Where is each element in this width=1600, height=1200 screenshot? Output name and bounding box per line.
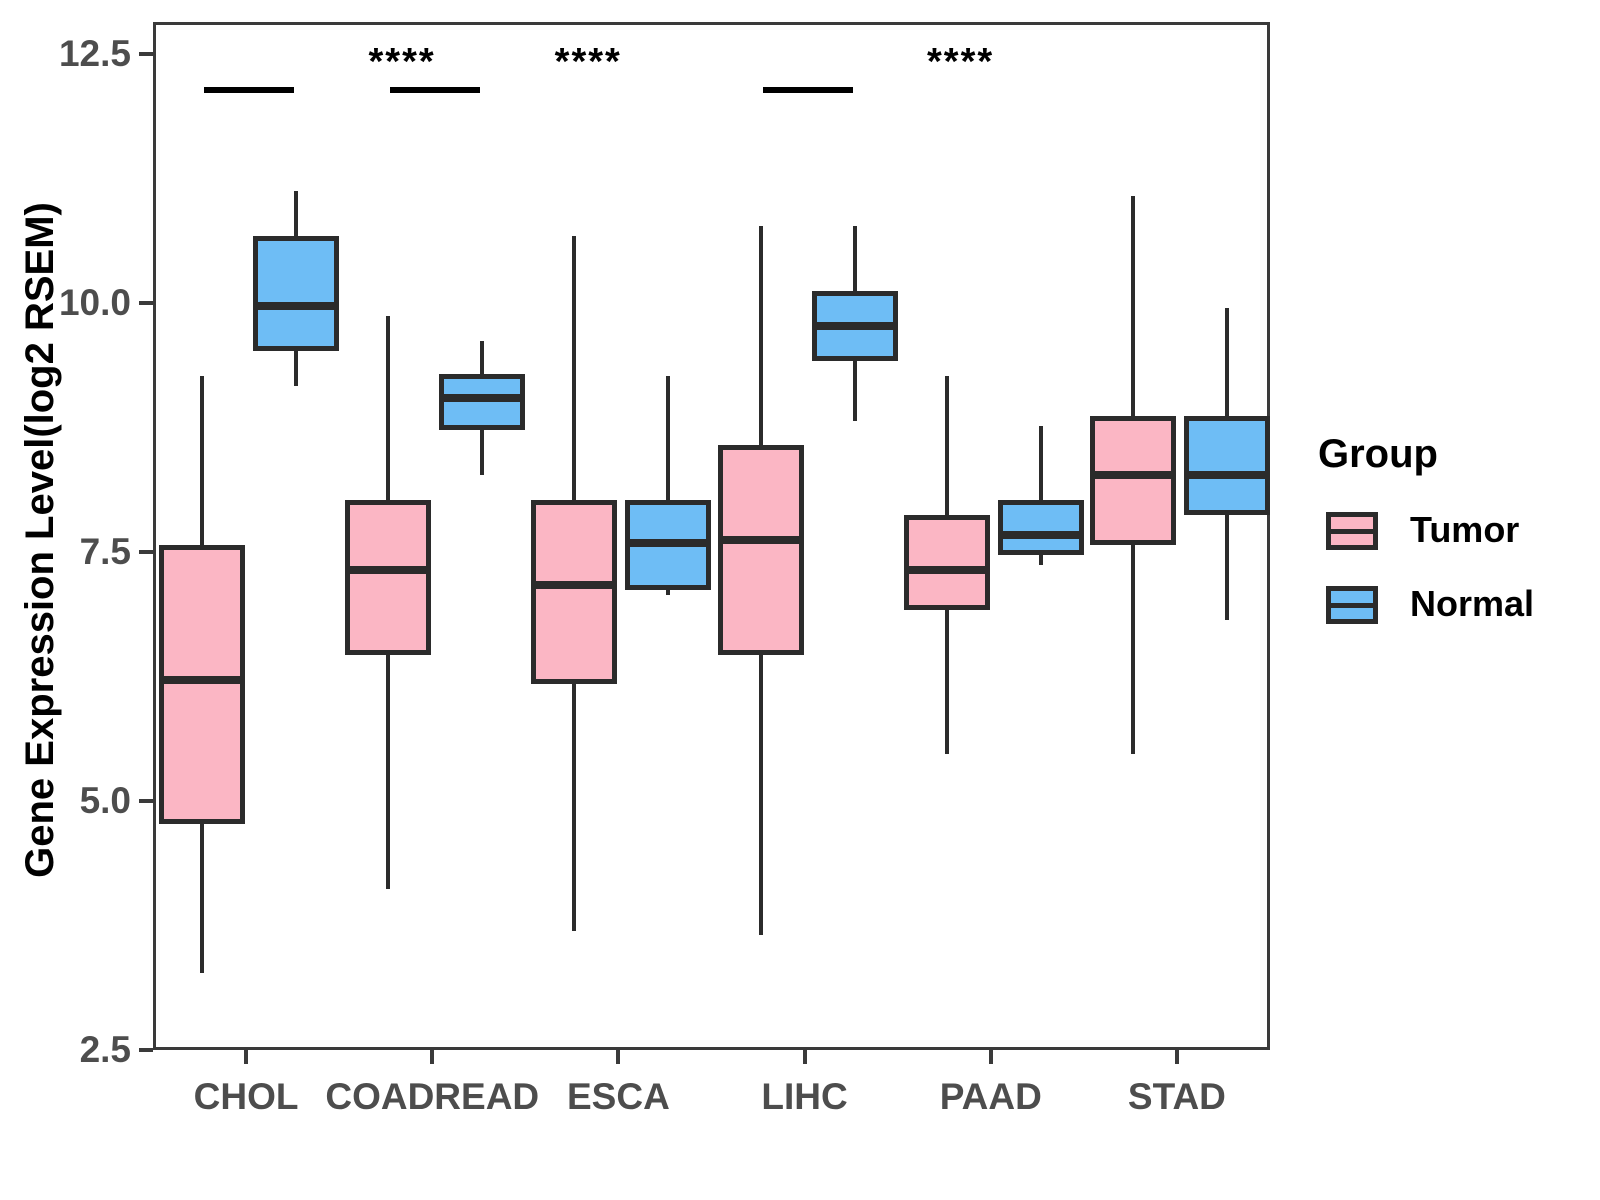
x-tick-mark — [803, 1050, 807, 1064]
y-tick-mark — [139, 301, 153, 305]
significance-stars: **** — [927, 43, 994, 81]
legend-title: Group — [1318, 432, 1588, 477]
median-line — [1090, 471, 1176, 479]
y-tick-label: 10.0 — [11, 282, 131, 324]
significance-bar — [390, 87, 480, 93]
y-tick-label: 5.0 — [11, 780, 131, 822]
legend-label: Normal — [1410, 583, 1534, 625]
box-tumor-lihc — [718, 445, 804, 654]
y-tick-mark — [139, 52, 153, 56]
box-normal-chol — [253, 236, 339, 351]
y-tick-label: 12.5 — [11, 33, 131, 75]
median-line — [998, 531, 1084, 539]
median-line — [812, 322, 898, 330]
plot-area: ************ — [156, 25, 1267, 1047]
median-line — [904, 566, 990, 574]
legend-median — [1326, 603, 1378, 608]
median-line — [345, 566, 431, 574]
legend: Group TumorNormal — [1318, 432, 1588, 647]
significance-bar — [204, 87, 294, 93]
x-tick-mark — [989, 1050, 993, 1064]
chart-root: Gene Expression Level(log2 RSEM) 12.510.… — [0, 0, 1600, 1200]
median-line — [439, 394, 525, 402]
x-tick-mark — [244, 1050, 248, 1064]
x-tick-mark — [430, 1050, 434, 1064]
plot-panel: ************ — [153, 22, 1270, 1050]
box-normal-stad — [1184, 416, 1270, 516]
legend-median — [1326, 529, 1378, 534]
significance-bar — [763, 87, 853, 93]
box-normal-coadread — [439, 374, 525, 431]
x-tick-mark — [1175, 1050, 1179, 1064]
median-line — [1184, 471, 1270, 479]
box-tumor-coadread — [345, 500, 431, 654]
y-tick-label: 7.5 — [11, 531, 131, 573]
y-tick-mark — [139, 1048, 153, 1052]
median-line — [625, 539, 711, 547]
legend-key-swatch — [1318, 577, 1386, 631]
legend-key-swatch — [1318, 503, 1386, 557]
median-line — [718, 536, 804, 544]
box-tumor-esca — [531, 500, 617, 684]
box-normal-paad — [998, 500, 1084, 555]
y-tick-mark — [139, 550, 153, 554]
legend-items: TumorNormal — [1318, 499, 1588, 635]
y-tick-mark — [139, 799, 153, 803]
legend-item-normal[interactable]: Normal — [1318, 573, 1588, 635]
y-tick-label: 2.5 — [11, 1029, 131, 1071]
median-line — [531, 581, 617, 589]
x-tick-label-stad: STAD — [1057, 1076, 1297, 1118]
significance-stars: **** — [555, 43, 622, 81]
median-line — [253, 302, 339, 310]
box-tumor-chol — [159, 545, 245, 824]
box-tumor-paad — [904, 515, 990, 610]
legend-label: Tumor — [1410, 509, 1519, 551]
box-tumor-stad — [1090, 416, 1176, 545]
x-tick-mark — [616, 1050, 620, 1064]
median-line — [159, 676, 245, 684]
significance-stars: **** — [369, 43, 436, 81]
legend-item-tumor[interactable]: Tumor — [1318, 499, 1588, 561]
